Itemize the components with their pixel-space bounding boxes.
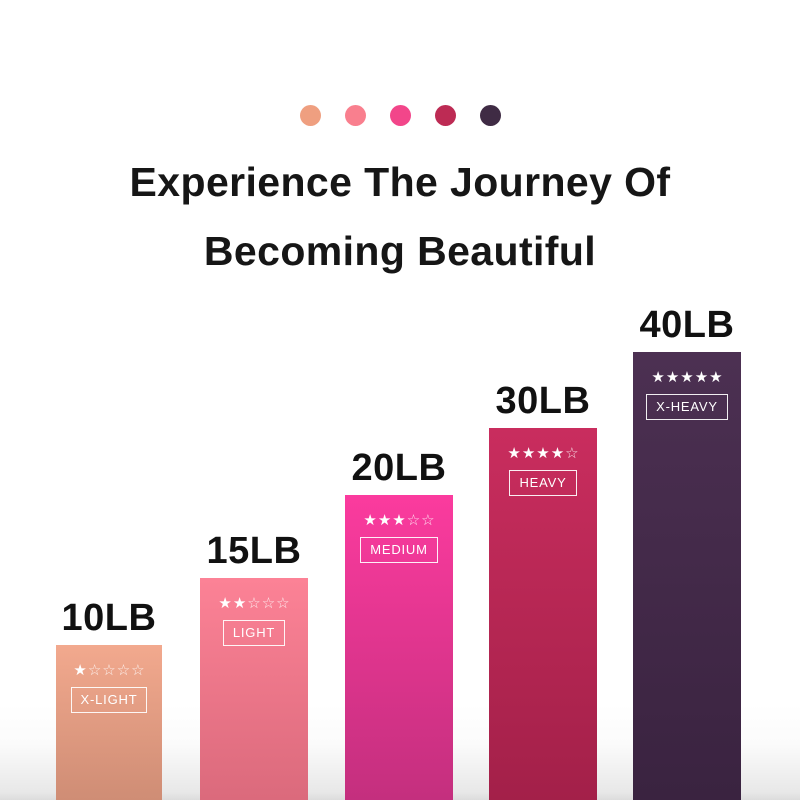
bar-badge: ★★★★☆HEAVY — [489, 446, 597, 496]
star-hollow-icon: ☆ — [565, 446, 578, 461]
star-hollow-icon: ☆ — [131, 663, 144, 678]
star-filled-icon: ★ — [392, 513, 405, 528]
star-hollow-icon: ☆ — [102, 663, 115, 678]
star-filled-icon: ★ — [666, 370, 679, 385]
level-label: LIGHT — [223, 620, 285, 646]
resistance-bar-chart: 10LB★☆☆☆☆X-LIGHT15LB★★☆☆☆LIGHT20LB★★★☆☆M… — [0, 0, 800, 800]
star-rating: ★★★★★ — [651, 370, 722, 385]
bar-group[interactable]: 30LB★★★★☆HEAVY — [489, 376, 597, 800]
star-filled-icon: ★ — [507, 446, 520, 461]
star-filled-icon: ★ — [536, 446, 549, 461]
star-hollow-icon: ☆ — [117, 663, 130, 678]
bar-medium[interactable]: ★★★☆☆MEDIUM — [345, 495, 453, 800]
star-rating: ★★★☆☆ — [363, 513, 434, 528]
bar-badge: ★★☆☆☆LIGHT — [200, 596, 308, 646]
star-hollow-icon: ☆ — [247, 596, 260, 611]
bar-value-label: 10LB — [62, 599, 157, 637]
bar-value-label: 40LB — [640, 306, 735, 344]
star-filled-icon: ★ — [695, 370, 708, 385]
star-rating: ★★★★☆ — [507, 446, 578, 461]
star-hollow-icon: ☆ — [262, 596, 275, 611]
bar-value-label: 20LB — [352, 449, 447, 487]
star-hollow-icon: ☆ — [276, 596, 289, 611]
bar-x-heavy[interactable]: ★★★★★X-HEAVY — [633, 352, 741, 800]
star-filled-icon: ★ — [233, 596, 246, 611]
star-filled-icon: ★ — [551, 446, 564, 461]
star-filled-icon: ★ — [522, 446, 535, 461]
star-rating: ★☆☆☆☆ — [73, 663, 144, 678]
star-filled-icon: ★ — [680, 370, 693, 385]
star-filled-icon: ★ — [651, 370, 664, 385]
bar-value-label: 30LB — [496, 382, 591, 420]
bar-heavy[interactable]: ★★★★☆HEAVY — [489, 428, 597, 800]
bar-x-light[interactable]: ★☆☆☆☆X-LIGHT — [56, 645, 162, 800]
level-label: X-HEAVY — [646, 394, 728, 420]
bar-group[interactable]: 20LB★★★☆☆MEDIUM — [345, 443, 453, 800]
level-label: X-LIGHT — [71, 687, 148, 713]
star-hollow-icon: ☆ — [407, 513, 420, 528]
star-filled-icon: ★ — [363, 513, 376, 528]
bar-badge: ★★★☆☆MEDIUM — [345, 513, 453, 563]
bar-group[interactable]: 40LB★★★★★X-HEAVY — [633, 300, 741, 800]
star-filled-icon: ★ — [709, 370, 722, 385]
bar-value-label: 15LB — [207, 532, 302, 570]
bar-light[interactable]: ★★☆☆☆LIGHT — [200, 578, 308, 800]
product-infographic: Experience The Journey Of Becoming Beaut… — [0, 0, 800, 800]
bar-group[interactable]: 10LB★☆☆☆☆X-LIGHT — [56, 593, 162, 800]
level-label: MEDIUM — [360, 537, 438, 563]
star-filled-icon: ★ — [378, 513, 391, 528]
star-filled-icon: ★ — [218, 596, 231, 611]
star-hollow-icon: ☆ — [88, 663, 101, 678]
bar-badge: ★★★★★X-HEAVY — [633, 370, 741, 420]
star-filled-icon: ★ — [73, 663, 86, 678]
star-rating: ★★☆☆☆ — [218, 596, 289, 611]
bar-group[interactable]: 15LB★★☆☆☆LIGHT — [200, 526, 308, 800]
star-hollow-icon: ☆ — [421, 513, 434, 528]
bar-badge: ★☆☆☆☆X-LIGHT — [56, 663, 162, 713]
level-label: HEAVY — [509, 470, 576, 496]
